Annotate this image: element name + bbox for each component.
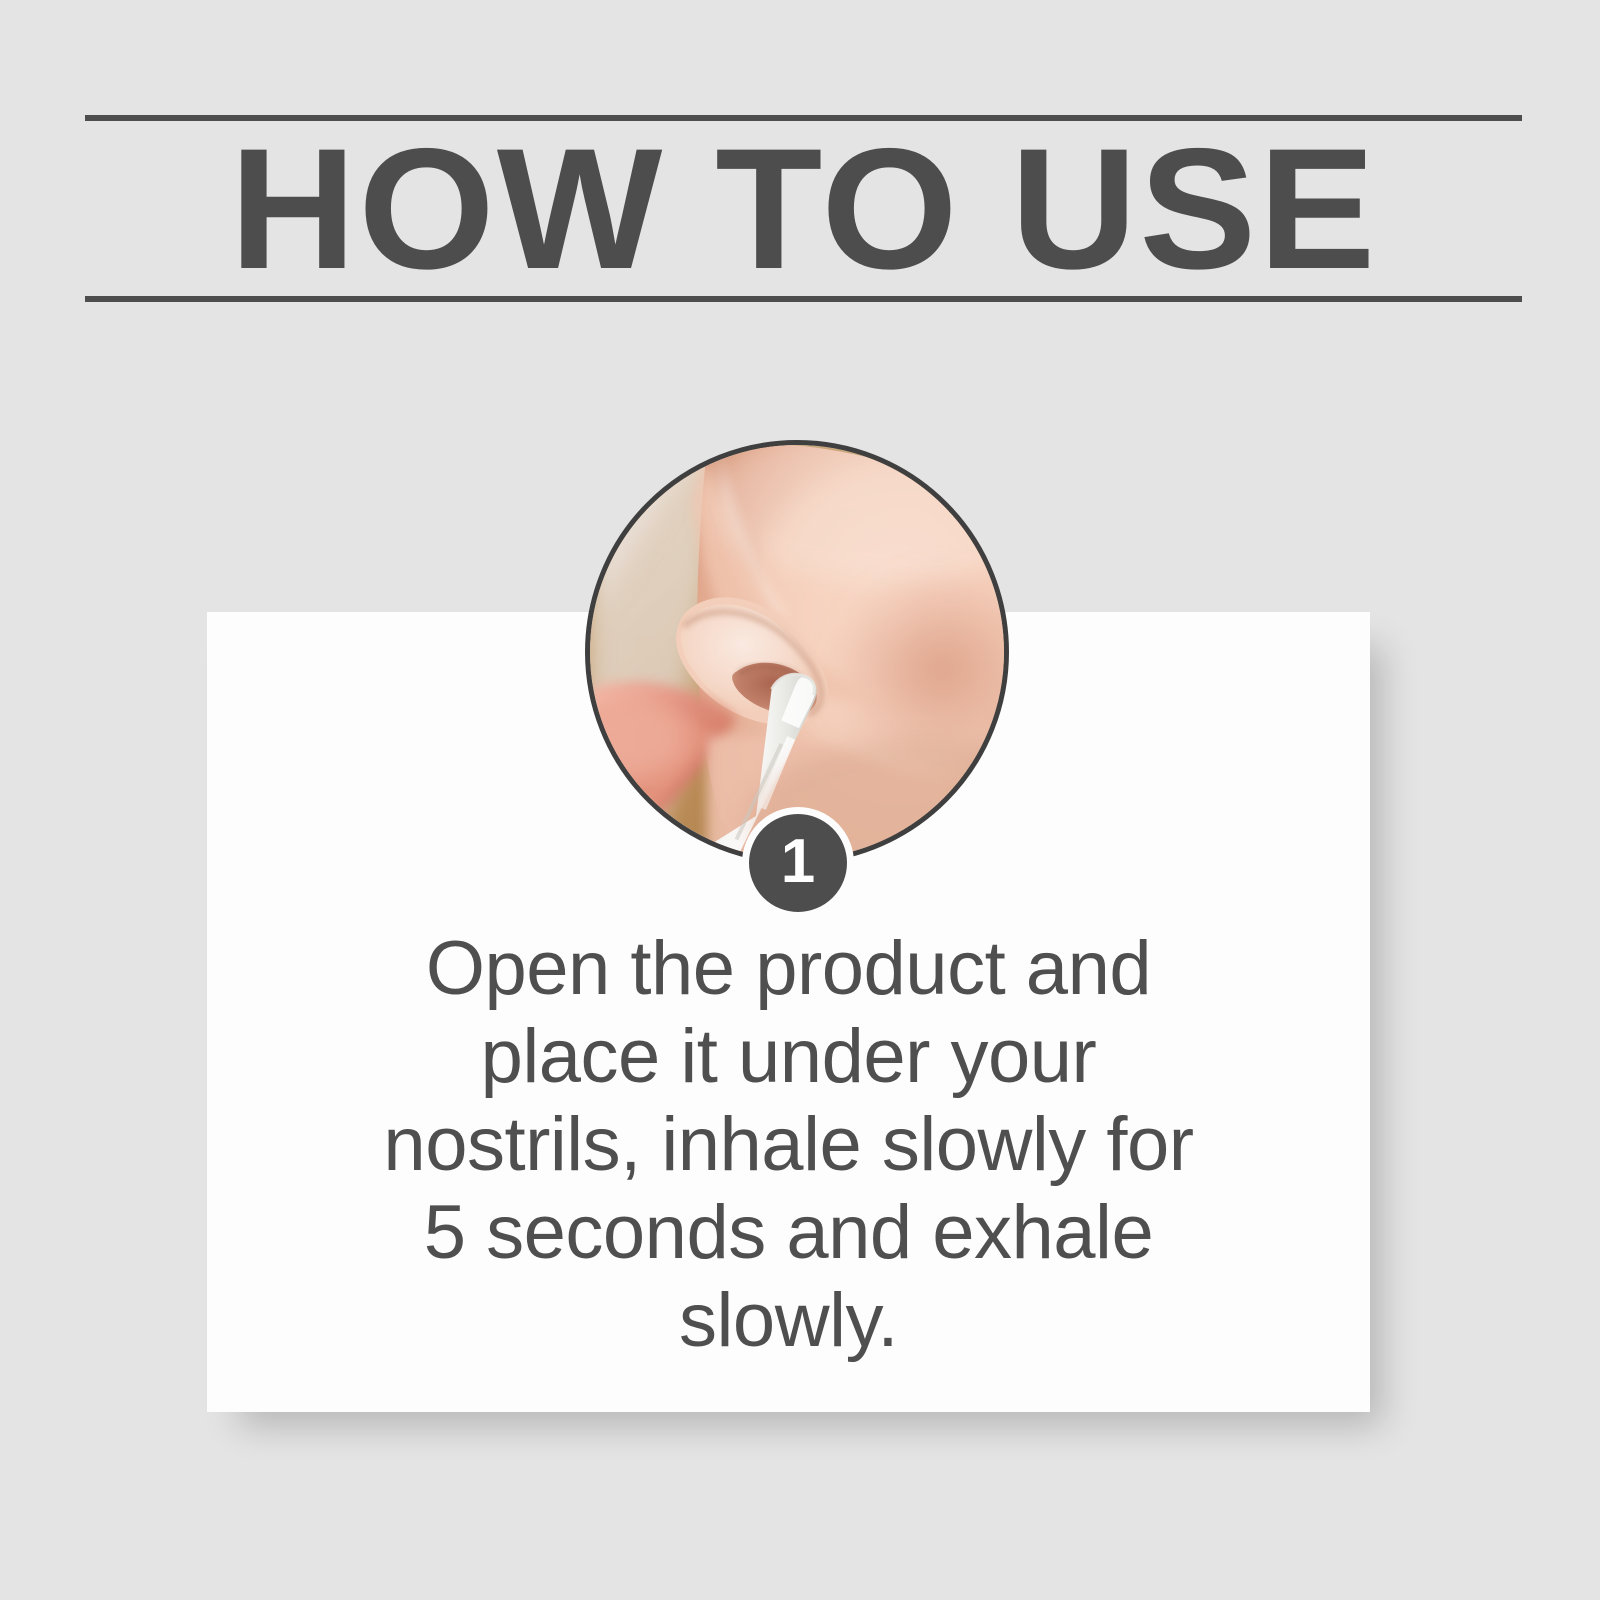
nose-inhaler-photo-icon [590,445,1004,859]
step-number-label: 1 [781,831,815,895]
step-number-badge: 1 [742,807,854,919]
header: HOW TO USE [85,115,1522,302]
page-title: HOW TO USE [71,115,1537,302]
how-to-use-infographic: HOW TO USE [0,0,1600,1600]
step-description: Open the product and place it under your… [380,925,1197,1365]
header-bottom-rule [85,296,1522,302]
step-photo [585,440,1009,864]
